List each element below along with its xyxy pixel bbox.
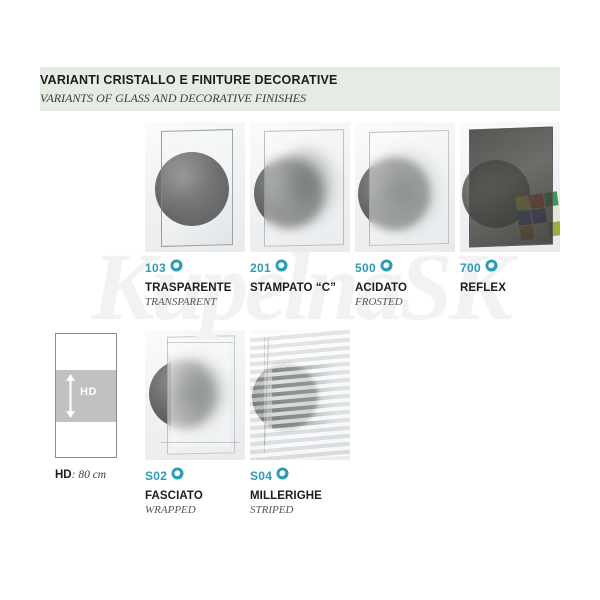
- finish-circle-icon: [171, 467, 184, 485]
- code-row: S04: [250, 468, 322, 483]
- stripe-smear: [272, 363, 334, 430]
- finish-code: 103: [145, 261, 166, 275]
- finish-code: S04: [250, 469, 272, 483]
- hd-double-arrow-icon: [65, 374, 76, 418]
- finish-code: 700: [460, 261, 481, 275]
- finish-name-en: FROSTED: [355, 296, 407, 308]
- finish-name: REFLEX: [460, 282, 506, 294]
- finish-name: TRASPARENTE: [145, 282, 232, 294]
- code-row: 201: [250, 260, 336, 275]
- finish-circle-icon: [380, 259, 393, 277]
- finish-code: 500: [355, 261, 376, 275]
- finish-name: MILLERIGHE: [250, 490, 322, 502]
- finish-label-S02: S02 FASCIATO WRAPPED: [145, 468, 203, 516]
- finish-circle-icon: [275, 259, 288, 277]
- finish-name-en: TRANSPARENT: [145, 296, 232, 308]
- finish-label-103: 103 TRASPARENTE TRANSPARENT: [145, 260, 232, 308]
- code-row: 103: [145, 260, 232, 275]
- finish-circle-icon: [170, 259, 183, 277]
- sample-image-S04[interactable]: [250, 330, 350, 460]
- finish-circle-icon: [485, 259, 498, 277]
- finish-name-en: WRAPPED: [145, 504, 203, 516]
- hd-caption-value: : 80 cm: [72, 469, 107, 481]
- hd-band-label: HD: [80, 386, 97, 398]
- finish-label-S04: S04 MILLERIGHE STRIPED: [250, 468, 322, 516]
- sample-image-201[interactable]: [250, 122, 350, 252]
- finish-code: S02: [145, 469, 167, 483]
- finish-name: STAMPATO “C”: [250, 282, 336, 294]
- pane-top-edge: [167, 342, 233, 343]
- glass-pane-front: [161, 129, 233, 247]
- frosted-diffusion: [373, 152, 439, 232]
- page-subtitle: VARIANTS OF GLASS AND DECORATIVE FINISHE…: [40, 91, 306, 106]
- sample-image-S02[interactable]: [145, 330, 245, 460]
- finish-label-201: 201 STAMPATO “C”: [250, 260, 336, 296]
- code-row: 500: [355, 260, 407, 275]
- code-row: 700: [460, 260, 506, 275]
- sample-image-103[interactable]: [145, 122, 245, 252]
- hd-diagram: HD: [55, 333, 117, 458]
- finish-label-500: 500 ACIDATO FROSTED: [355, 260, 407, 308]
- finish-name: FASCIATO: [145, 490, 203, 502]
- sample-image-700[interactable]: [460, 122, 560, 252]
- hd-caption-label: HD: [55, 469, 72, 481]
- page-title: VARIANTI CRISTALLO E FINITURE DECORATIVE: [40, 73, 338, 87]
- sample-image-500[interactable]: [355, 122, 455, 252]
- finish-label-700: 700 REFLEX: [460, 260, 506, 296]
- texture-blotch: [276, 148, 338, 226]
- reflex-glass-overlay: [469, 127, 553, 248]
- hd-band: HD: [56, 370, 116, 422]
- wrapped-diffusion: [169, 358, 229, 428]
- code-row: S02: [145, 468, 203, 483]
- finish-name-en: STRIPED: [250, 504, 322, 516]
- hd-caption: HD: 80 cm: [55, 469, 106, 481]
- finish-circle-icon: [276, 467, 289, 485]
- finish-code: 201: [250, 261, 271, 275]
- finish-name: ACIDATO: [355, 282, 407, 294]
- pane-bottom-edge: [161, 442, 239, 443]
